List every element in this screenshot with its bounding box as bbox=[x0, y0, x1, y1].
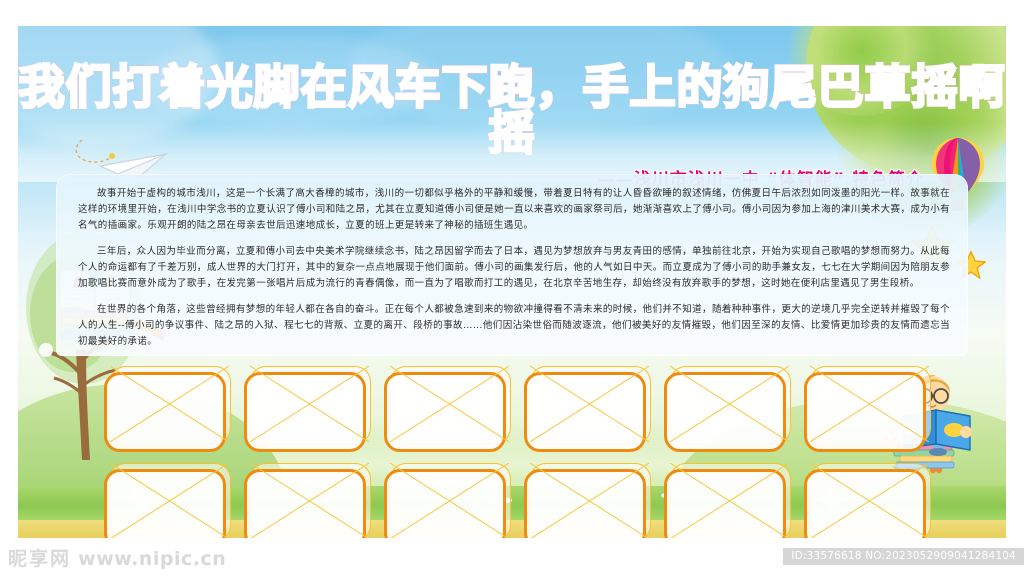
photo-placeholder-cross bbox=[390, 463, 509, 538]
photo-frame[interactable] bbox=[244, 366, 371, 450]
poster-board: A B C bbox=[18, 26, 1006, 538]
article-panel: 故事开始于虚构的城市浅川，这是一个长满了高大香樟的城市，浅川的一切都似乎格外的平… bbox=[56, 174, 968, 356]
photo-placeholder-cross bbox=[530, 463, 649, 538]
photo-frame[interactable] bbox=[104, 463, 231, 538]
photo-frame[interactable] bbox=[804, 463, 931, 538]
photo-placeholder-cross bbox=[670, 366, 789, 442]
paragraph-1: 故事开始于虚构的城市浅川，这是一个长满了高大香樟的城市，浅川的一切都似乎格外的平… bbox=[78, 186, 950, 234]
photo-frame[interactable] bbox=[384, 463, 511, 538]
photo-frame[interactable] bbox=[664, 463, 791, 538]
image-id-badge: ID:33576618 NO:2023052909041284104 bbox=[783, 548, 1024, 565]
footer-bar: 昵享网 www.nipic.cn ID:33576618 NO:20230529… bbox=[0, 538, 1024, 576]
photo-frame[interactable] bbox=[524, 463, 651, 538]
photo-placeholder-cross bbox=[390, 366, 509, 442]
photo-placeholder-cross bbox=[250, 366, 369, 442]
photo-frame[interactable] bbox=[104, 366, 231, 450]
photo-placeholder-cross bbox=[110, 366, 229, 442]
watermark-site-name: 昵享网 bbox=[8, 548, 71, 570]
photo-placeholder-cross bbox=[810, 366, 929, 442]
photo-frame[interactable] bbox=[244, 463, 371, 538]
poster-screenshot: A B C bbox=[0, 0, 1024, 576]
site-watermark: 昵享网 www.nipic.cn bbox=[8, 544, 226, 571]
photo-placeholder-cross bbox=[530, 366, 649, 442]
sky-blob-3 bbox=[348, 26, 728, 126]
photo-frame[interactable] bbox=[384, 366, 511, 450]
photo-placeholder-cross bbox=[810, 463, 929, 538]
photo-frame[interactable] bbox=[524, 366, 651, 450]
photo-frame[interactable] bbox=[804, 366, 931, 450]
paragraph-2: 三年后，众人因为毕业而分离，立夏和傅小司去中央美术学院继续念书，陆之昂因留学而去… bbox=[78, 244, 950, 292]
photo-placeholder-cross bbox=[110, 463, 229, 538]
photo-placeholder-cross bbox=[250, 463, 369, 538]
paragraph-3: 在世界的各个角落，这些曾经拥有梦想的年轻人都在各自的奋斗。正在每个人都被急速到来… bbox=[78, 302, 950, 350]
photo-placeholder-cross bbox=[670, 463, 789, 538]
photo-frame[interactable] bbox=[664, 366, 791, 450]
watermark-url: www.nipic.cn bbox=[78, 548, 226, 570]
